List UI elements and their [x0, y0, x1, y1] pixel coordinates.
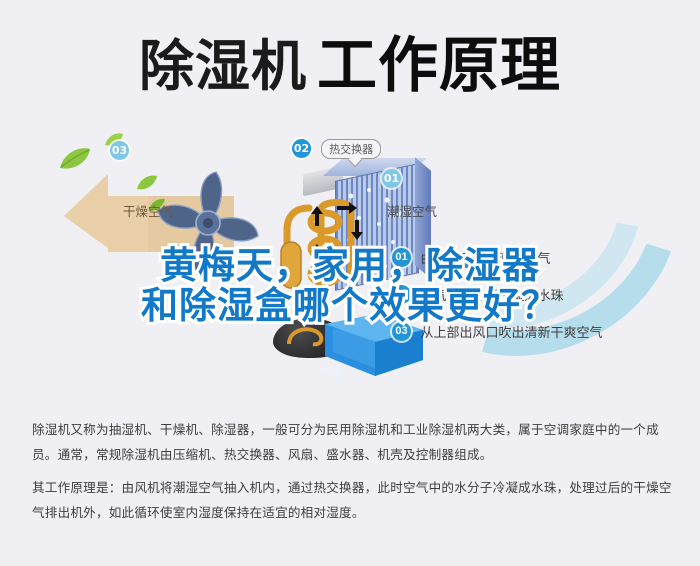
- badge-03-dry-air: 03: [110, 141, 129, 160]
- step-text-01: 由进风口吸入潮湿空气: [420, 251, 550, 266]
- badge-01-humid-air: 01: [382, 169, 401, 188]
- title-part-2: 工作原理: [317, 36, 561, 96]
- process-step: 03 从上部出风口吹出清新干爽空气: [392, 322, 602, 341]
- step-badge-01: 01: [392, 248, 411, 267]
- badge-02-heat-exchanger: 02: [292, 139, 311, 158]
- heat-exchanger-callout: 热交换器: [321, 139, 381, 159]
- step-badge-02: 02: [392, 285, 411, 304]
- label-humid-air-text: 潮湿空气: [387, 204, 437, 219]
- body-paragraph-1: 除湿机又称为抽湿机、干燥机、除湿器，一般可分为民用除湿机和工业除湿机两大类，属于…: [32, 418, 672, 467]
- poster-canvas: 除湿机 工作原理: [0, 0, 700, 566]
- process-step: 02 空气中水分子冷凝成水珠: [392, 285, 602, 304]
- dehumidifier-diagram: 水箱 03 干燥空气 02 热交换器 01 潮湿空气 01: [0, 120, 700, 385]
- fan-blades-icon: [148, 168, 268, 278]
- process-step-list: 01 由进风口吸入潮湿空气 02 空气中水分子冷凝成水珠 03 从上部出风口吹出…: [392, 248, 602, 350]
- label-dry-air-badge: 03: [110, 140, 129, 160]
- label-humid-air-badge: 01: [382, 168, 401, 188]
- water-tank-label: 水箱: [319, 362, 341, 378]
- step-text-02: 空气中水分子冷凝成水珠: [420, 288, 563, 303]
- step-text-03: 从上部出风口吹出清新干爽空气: [420, 325, 602, 340]
- page-title: 除湿机 工作原理: [0, 22, 700, 110]
- body-paragraph-2: 其工作原理是：由风机将潮湿空气抽入机内，通过热交换器，此时空气中的水分子冷凝成水…: [32, 476, 672, 525]
- refrigerant-coil-icon: [275, 190, 395, 300]
- leaf-icon: [58, 146, 92, 172]
- article-body: 除湿机又称为抽湿机、干燥机、除湿器，一般可分为民用除湿机和工业除湿机两大类，属于…: [32, 418, 672, 534]
- label-dry-air-text: 干燥空气: [123, 204, 173, 219]
- label-heat-exchanger: 02 热交换器: [292, 138, 381, 159]
- label-dry-air: 干燥空气: [118, 200, 173, 220]
- label-humid-air: 潮湿空气: [382, 200, 437, 220]
- process-step: 01 由进风口吸入潮湿空气: [392, 248, 602, 267]
- title-part-1: 除湿机: [139, 39, 307, 94]
- step-badge-03: 03: [392, 322, 411, 341]
